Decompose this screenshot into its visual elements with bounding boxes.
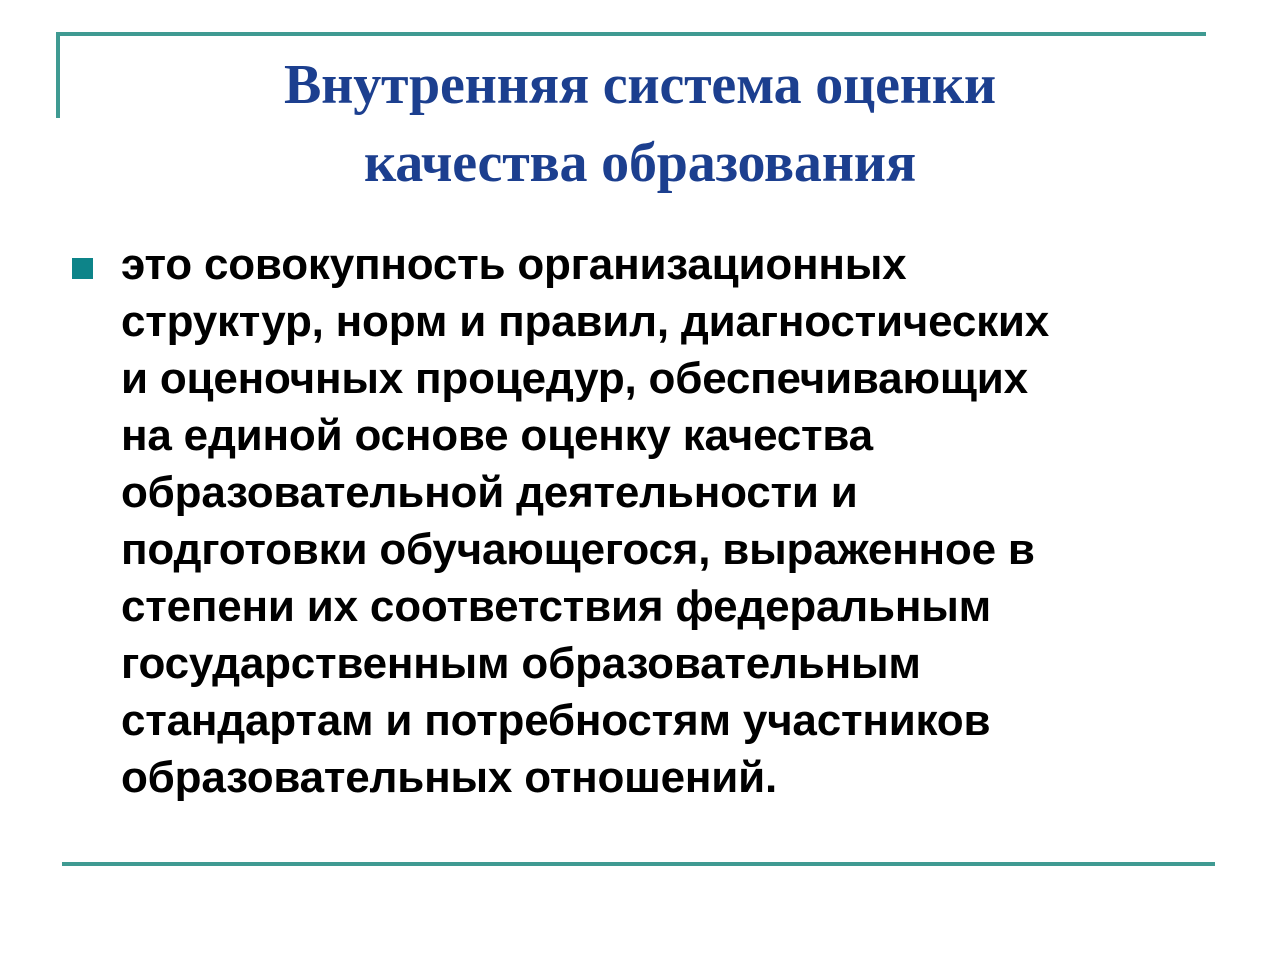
bullet-list-item: это совокупность организационных структу… [121, 236, 1212, 806]
body-line-5: образовательной деятельности и [121, 464, 1212, 521]
top-divider-rule [56, 32, 1206, 36]
body-line-2: структур, норм и правил, диагностических [121, 293, 1212, 350]
left-accent-rule [56, 32, 60, 118]
body-line-6: подготовки обучающегося, выраженное в [121, 521, 1212, 578]
bottom-divider-rule [62, 862, 1215, 866]
slide-title-line-2: качества образования [120, 124, 1160, 202]
slide-canvas: Внутренняя система оценки качества образ… [0, 0, 1280, 960]
slide-title: Внутренняя система оценки качества образ… [120, 46, 1160, 202]
body-line-3: и оценочных процедур, обеспечивающих [121, 350, 1212, 407]
body-line-10: образовательных отношений. [121, 749, 1212, 806]
body-line-8: государственным образовательным [121, 635, 1212, 692]
body-line-1: это совокупность организационных [121, 236, 1212, 293]
body-line-9: стандартам и потребностям участников [121, 692, 1212, 749]
slide-title-line-1: Внутренняя система оценки [120, 46, 1160, 124]
bullet-list: это совокупность организационных структу… [72, 236, 1212, 806]
body-line-7: степени их соответствия федеральным [121, 578, 1212, 635]
body-line-4: на единой основе оценку качества [121, 407, 1212, 464]
square-bullet-icon [72, 258, 93, 279]
